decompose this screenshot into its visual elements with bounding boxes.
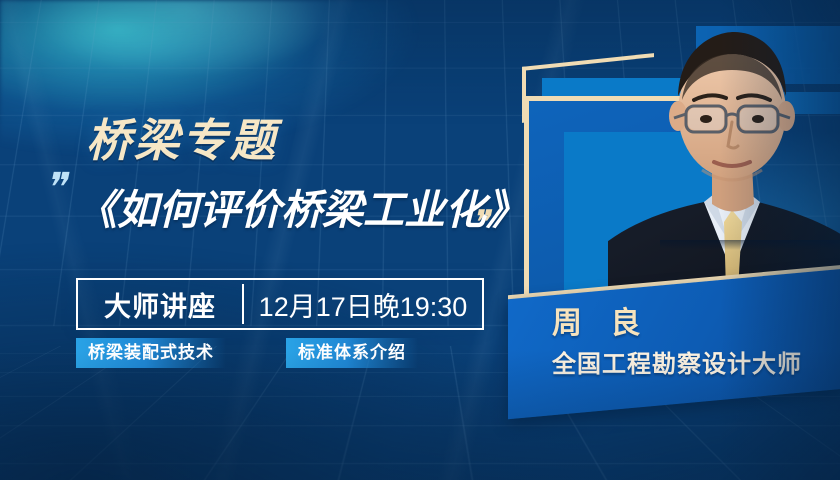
page-subtitle: 《如何评价桥梁工业化》: [76, 176, 527, 236]
page-title: 桥梁专题: [86, 104, 278, 169]
bottom-edge-shade: [0, 350, 840, 480]
event-datetime: 12月17日晚19:30: [244, 280, 482, 328]
event-poster: 桥梁专题 ❞ 《如何评价桥梁工业化》 ❞ 大师讲座 12月17日晚19:30 桥…: [0, 0, 840, 480]
subtitle-row: ❞ 《如何评价桥梁工业化》 ❞: [46, 170, 516, 242]
event-category-label: 大师讲座: [78, 280, 242, 328]
quote-open-icon: ❞: [44, 168, 74, 208]
event-info-box: 大师讲座 12月17日晚19:30: [76, 278, 484, 330]
